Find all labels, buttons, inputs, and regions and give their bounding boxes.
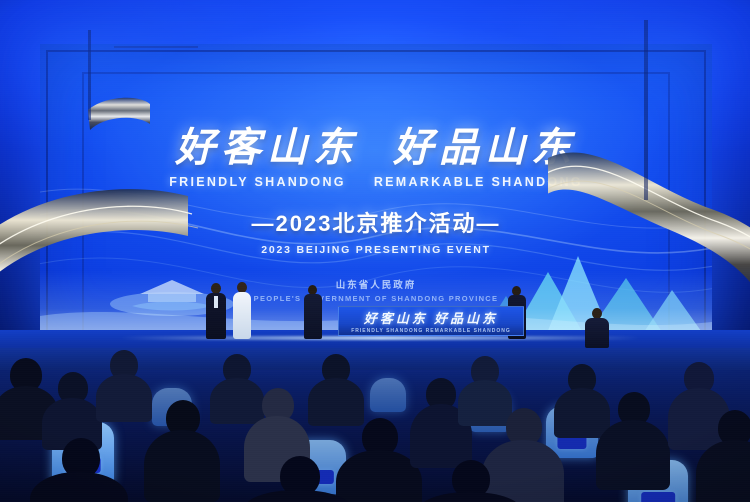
event-stage-photo: 好客山东 好品山东 FRIENDLY SHANDONG REMARKABLE S… xyxy=(0,0,750,502)
room-light-haze xyxy=(0,0,750,502)
